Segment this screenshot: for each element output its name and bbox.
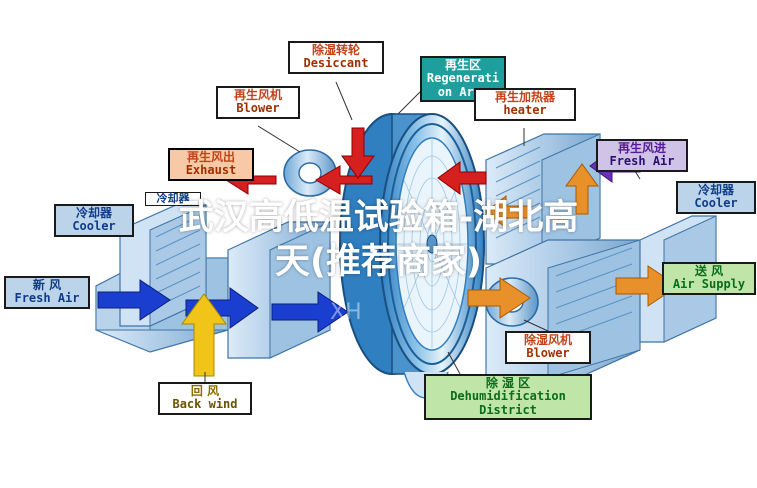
label-fresh-air-cn: 新 风 — [9, 279, 85, 292]
label-dehumid-blower-cn: 除湿风机 — [510, 334, 586, 347]
label-desiccant-rotor: 除湿转轮 Desiccant — [288, 41, 384, 74]
label-back-wind: 回 风 Back wind — [158, 382, 252, 415]
label-dehumidification-district-en: Dehumidification District — [429, 390, 587, 417]
label-desiccant-rotor-en: Desiccant — [293, 57, 379, 70]
label-regen-heater-cn: 再生加热器 — [479, 91, 571, 104]
label-desiccant-rotor-cn: 除湿转轮 — [293, 44, 379, 57]
label-regen-blower-en: Blower — [221, 102, 295, 115]
label-back-wind-en: Back wind — [163, 398, 247, 411]
label-fresh-air: 新 风 Fresh Air — [4, 276, 90, 309]
label-regen-blower-cn: 再生风机 — [221, 89, 295, 102]
label-regen-blower: 再生风机 Blower — [216, 86, 300, 119]
label-regen-fresh-air-cn: 再生风进 — [601, 142, 683, 155]
label-dehumidification-district: 除 湿 区 Dehumidification District — [424, 374, 592, 420]
label-regen-heater: 再生加热器 heater — [474, 88, 576, 121]
label-dehumidification-district-cn: 除 湿 区 — [429, 377, 587, 390]
label-cooler-left: 冷却器 Cooler — [54, 204, 134, 237]
label-air-supply: 送 风 Air Supply — [662, 262, 756, 295]
label-regen-fresh-air-en: Fresh Air — [601, 155, 683, 168]
label-regen-exhaust: 再生风出 Exhaust — [168, 148, 254, 181]
label-fresh-air-en: Fresh Air — [9, 292, 85, 305]
label-air-supply-en: Air Supply — [667, 278, 751, 291]
label-regeneration-area-cn: 再生区 — [425, 59, 501, 72]
label-cooler-small-cn: 冷却器 — [148, 193, 198, 205]
label-dehumid-blower-en: Blower — [510, 347, 586, 360]
label-dehumid-blower: 除湿风机 Blower — [505, 331, 591, 364]
label-regen-heater-en: heater — [479, 104, 571, 117]
label-cooler-left-en: Cooler — [59, 220, 129, 233]
label-cooler-right: 冷却器 Cooler — [676, 181, 756, 214]
label-cooler-right-en: Cooler — [681, 197, 751, 210]
label-regen-exhaust-cn: 再生风出 — [173, 151, 249, 164]
label-regen-fresh-air: 再生风进 Fresh Air — [596, 139, 688, 172]
label-air-supply-cn: 送 风 — [667, 265, 751, 278]
label-cooler-right-cn: 冷却器 — [681, 184, 751, 197]
diagram-canvas: 除湿转轮 Desiccant 再生区 Regenerati on Area 再生… — [0, 0, 757, 488]
label-cooler-small: 冷却器 — [145, 192, 201, 206]
label-regen-exhaust-en: Exhaust — [173, 164, 249, 177]
label-cooler-left-cn: 冷却器 — [59, 207, 129, 220]
label-back-wind-cn: 回 风 — [163, 385, 247, 398]
process-inlet-duct — [228, 222, 330, 358]
